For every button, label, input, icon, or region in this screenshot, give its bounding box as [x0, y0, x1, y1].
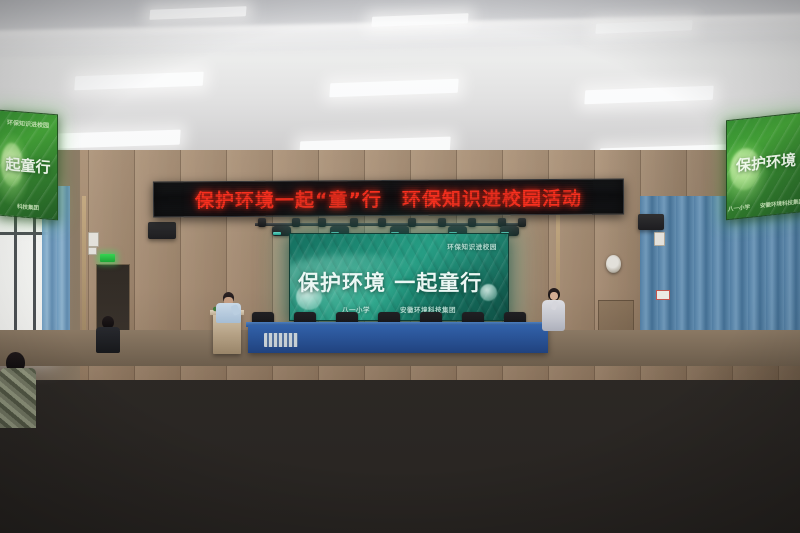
exit-sign-icon [100, 254, 115, 262]
speaker-icon [148, 222, 176, 239]
ceiling-light [329, 79, 458, 97]
stage-light [468, 218, 476, 227]
wall-sign [656, 290, 670, 300]
side-display-right: 保护环境 八一小学 安徽环境科技集团 [726, 112, 800, 220]
led-banner-text: 保护环境一起“童”行 环保知识进校园活动 [195, 183, 582, 212]
wall-fixture [88, 247, 97, 255]
stage-light [292, 218, 300, 227]
stage-light [318, 218, 326, 227]
stage-light [378, 218, 386, 227]
stage-light [438, 218, 446, 227]
side-left-footer-right: 科技集团 [17, 202, 39, 212]
auditorium-photo: 环保知识进校园 起童行 科技集团 保护环境 八一小学 安徽环境科技集团 保护环境… [0, 0, 800, 533]
main-screen-top-label: 环保知识进校园 [447, 241, 497, 251]
light-lens [273, 232, 281, 235]
wall-fixture [88, 232, 99, 247]
audience-area [0, 334, 800, 533]
speaker-icon [638, 214, 664, 230]
wall-fixture [654, 232, 665, 246]
stage-light [518, 218, 526, 227]
stage-light [258, 218, 266, 227]
stage-light [350, 218, 358, 227]
side-left-main-text: 起童行 [0, 152, 57, 178]
adult-in-camouflage [0, 368, 36, 428]
ceiling-light [584, 86, 713, 104]
ceiling-light [74, 72, 203, 90]
stage-light [408, 218, 416, 227]
side-display-left: 环保知识进校园 起童行 科技集团 [0, 110, 58, 221]
wall-clock-icon [606, 255, 621, 273]
main-stage-display: 环保知识进校园 保护环境 一起童行 八一小学 安徽环境科技集团 [289, 233, 509, 321]
led-banner: 保护环境一起“童”行 环保知识进校园活动 [153, 179, 624, 218]
main-screen-headline: 保护环境 一起童行 [298, 267, 500, 297]
